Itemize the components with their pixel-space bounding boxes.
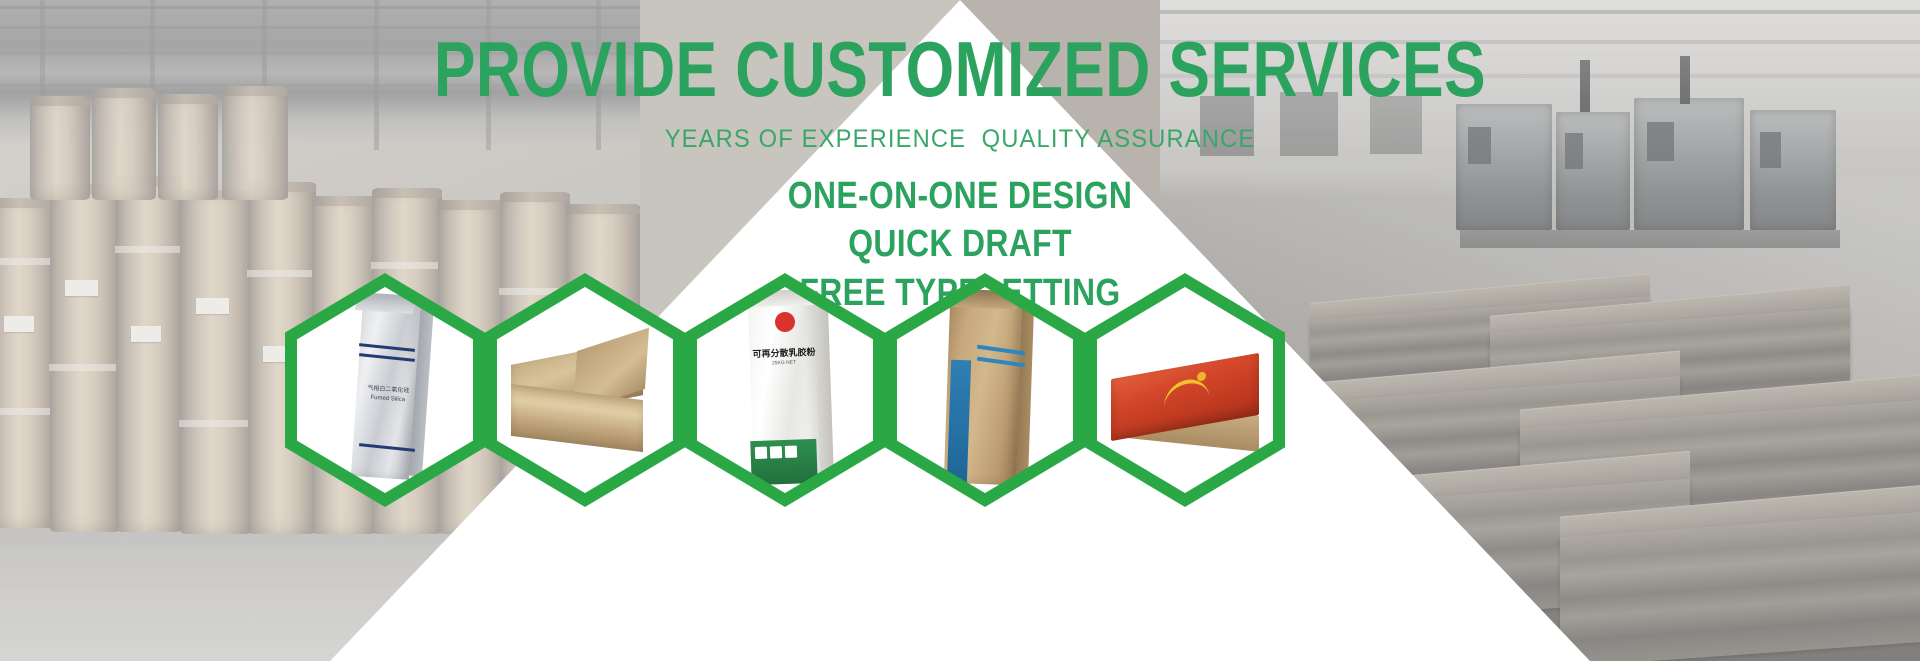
product-image-4 (885, 274, 1085, 506)
product-image-1: 气相白二氧化硅Fumed Silica (285, 274, 485, 506)
product-hexagon-row: 气相白二氧化硅Fumed Silica (0, 266, 1920, 516)
pitch-line-1: ONE-ON-ONE DESIGN (154, 172, 1767, 221)
product-hexagon-4[interactable] (885, 274, 1085, 506)
product-3-label: 可再分散乳胶粉 (751, 345, 817, 360)
promo-banner: PROVIDE CUSTOMIZED SERVICES YEARS OF EXP… (0, 0, 1920, 661)
banner-subtitle: YEARS OF EXPERIENCE QUALITY ASSURANCE (48, 125, 1872, 154)
product-hexagon-1[interactable]: 气相白二氧化硅Fumed Silica (285, 274, 485, 506)
page-title: PROVIDE CUSTOMIZED SERVICES (192, 28, 1728, 111)
product-hexagon-2[interactable] (485, 274, 685, 506)
pitch-line-2: QUICK DRAFT (154, 220, 1767, 269)
product-1-label: 气相白二氧化硅Fumed Silica (364, 384, 411, 405)
product-image-3: 可再分散乳胶粉 25KG NET (685, 274, 885, 506)
product-hexagon-5[interactable] (1085, 274, 1285, 506)
product-image-2 (485, 274, 685, 506)
product-image-5 (1085, 274, 1285, 506)
product-hexagon-3[interactable]: 可再分散乳胶粉 25KG NET (685, 274, 885, 506)
